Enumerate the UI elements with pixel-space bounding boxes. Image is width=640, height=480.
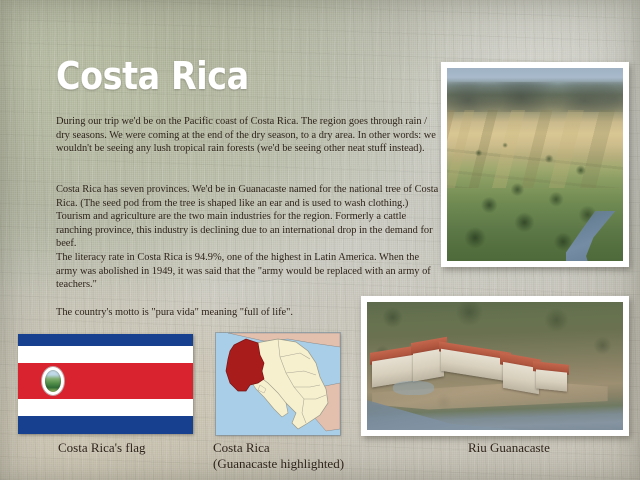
costa-rica-map	[216, 333, 340, 435]
page-title: Costa Rica	[56, 56, 249, 96]
flag-stripe-red	[18, 363, 193, 399]
flag-stripe-blue-top	[18, 334, 193, 346]
riu-guanacaste-image	[367, 302, 623, 430]
body-paragraph-3: The literacy rate in Costa Rica is 94.9%…	[56, 251, 442, 292]
flag-stripe-white-upper	[18, 346, 193, 363]
costa-rica-flag	[18, 334, 193, 434]
costa-rica-map-svg	[216, 333, 340, 435]
flag-stripe-blue-bottom	[18, 416, 193, 434]
coat-of-arms-shield	[45, 370, 61, 392]
riu-caption: Riu Guanacaste	[468, 440, 550, 456]
map-caption: Costa Rica (Guanacaste highlighted)	[213, 440, 344, 472]
aerial-landscape-photo	[441, 62, 629, 267]
flag-caption: Costa Rica's flag	[58, 440, 146, 456]
riu-building	[413, 348, 444, 382]
body-paragraph-2: Costa Rica has seven provinces. We'd be …	[56, 183, 442, 251]
flag-stripe-white-lower	[18, 399, 193, 416]
body-paragraph-1: During our trip we'd be on the Pacific c…	[56, 115, 442, 156]
presentation-slide: Costa Rica During our trip we'd be on th…	[0, 0, 640, 480]
aerial-landscape-image	[447, 68, 623, 261]
riu-guanacaste-photo	[361, 296, 629, 436]
coat-of-arms-icon	[42, 367, 64, 395]
riu-building	[536, 369, 567, 391]
riu-pool	[393, 381, 434, 395]
